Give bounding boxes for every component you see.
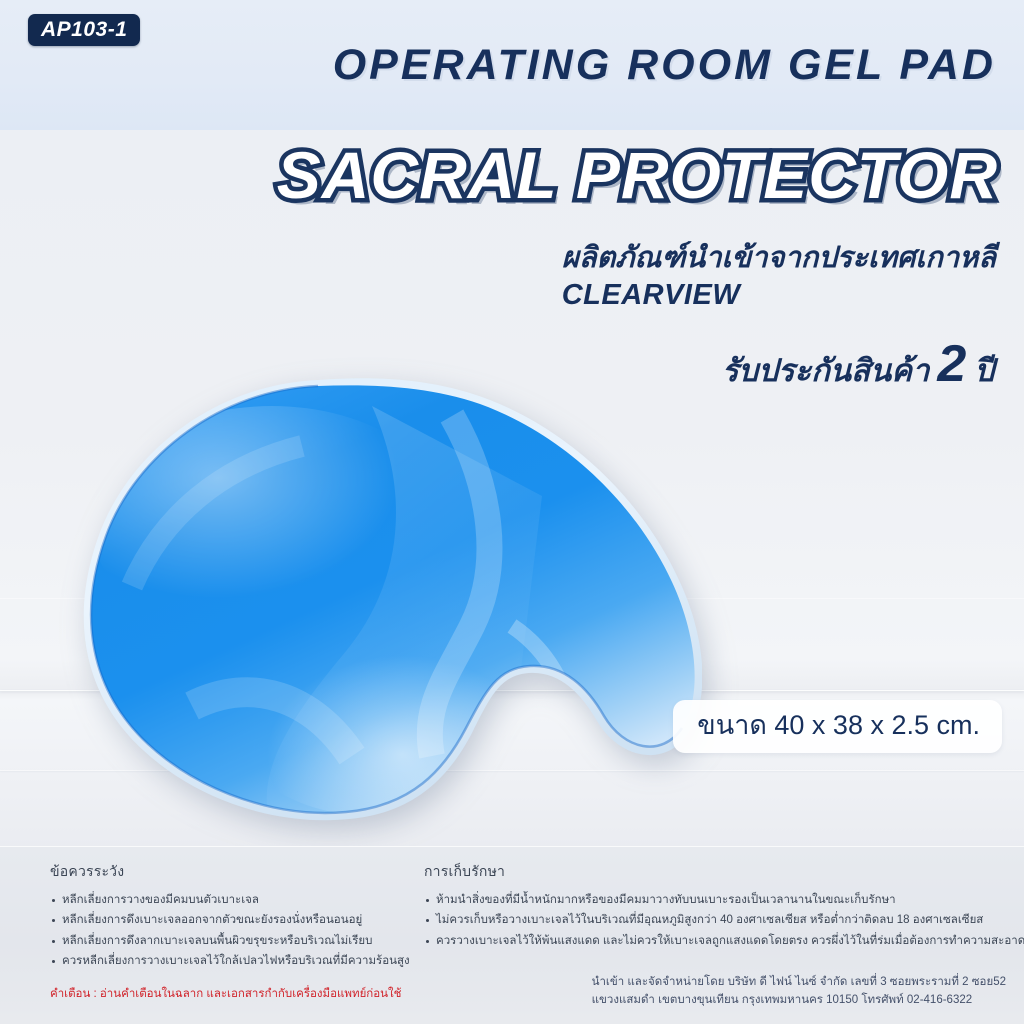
address-line-2: แขวงแสมดำ เขตบางขุนเทียน กรุงเทพมหานคร 1…	[592, 992, 1006, 1010]
size-label: ขนาด 40 x 38 x 2.5 cm.	[673, 700, 1002, 753]
storage-heading: การเก็บรักษา	[424, 861, 1009, 883]
distributor-address: นำเข้า และจัดจำหน่ายโดย บริษัท ดี ไฟน์ ไ…	[592, 974, 1006, 1010]
warranty-badge: รับประกันสินค้า 2 ปี	[722, 338, 994, 390]
cautions-column: ข้อควรระวัง หลีกเลี่ยงการวางของมีคมบนตัว…	[50, 861, 415, 972]
storage-list: ห้ามนำสิ่งของที่มีน้ำหนักมากหรือของมีคมม…	[424, 890, 1009, 951]
storage-column: การเก็บรักษา ห้ามนำสิ่งของที่มีน้ำหนักมา…	[424, 861, 1009, 951]
product-code-badge: AP103-1	[28, 14, 140, 46]
gel-pad-illustration	[72, 376, 702, 826]
origin-block: ผลิตภัณฑ์นำเข้าจากประเทศเกาหลี CLEARVIEW	[562, 240, 996, 314]
list-item: หลีกเลี่ยงการดึงเบาะเจลออกจากตัวขณะยังรอ…	[50, 910, 415, 930]
list-item: ห้ามนำสิ่งของที่มีน้ำหนักมากหรือของมีคมม…	[424, 890, 1009, 910]
address-line-1: นำเข้า และจัดจำหน่ายโดย บริษัท ดี ไฟน์ ไ…	[592, 974, 1006, 992]
page-title: SACRAL PROTECTOR	[277, 142, 998, 208]
warranty-years: 2	[937, 338, 966, 390]
list-item: หลีกเลี่ยงการดึงลากเบาะเจลบนพื้นผิวขรุขร…	[50, 931, 415, 951]
list-item: หลีกเลี่ยงการวางของมีคมบนตัวเบาะเจล	[50, 890, 415, 910]
warranty-prefix: รับประกันสินค้า	[722, 355, 930, 386]
product-photo-gel-pad	[72, 376, 702, 826]
list-item: ควรหลีกเลี่ยงการวางเบาะเจลไว้ใกล้เปลวไฟห…	[50, 951, 415, 971]
info-panel: ข้อควรระวัง หลีกเลี่ยงการวางของมีคมบนตัว…	[0, 846, 1024, 1024]
import-origin-line: ผลิตภัณฑ์นำเข้าจากประเทศเกาหลี	[562, 242, 996, 274]
brand-name: CLEARVIEW	[562, 277, 996, 314]
list-item: ควรวางเบาะเจลไว้ให้พ้นแสงแดด และไม่ควรให…	[424, 931, 1009, 951]
cautions-list: หลีกเลี่ยงการวางของมีคมบนตัวเบาะเจล หลีก…	[50, 890, 415, 972]
red-warning-text: คำเตือน : อ่านคำเตือนในฉลาก และเอกสารกำก…	[50, 987, 401, 1002]
kicker-title: OPERATING ROOM GEL PAD	[333, 44, 996, 87]
list-item: ไม่ควรเก็บหรือวางเบาะเจลไว้ในบริเวณที่มี…	[424, 910, 1009, 930]
warranty-suffix: ปี	[974, 355, 994, 386]
product-poster: AP103-1 OPERATING ROOM GEL PAD SACRAL PR…	[0, 0, 1024, 1024]
cautions-heading: ข้อควรระวัง	[50, 861, 415, 883]
